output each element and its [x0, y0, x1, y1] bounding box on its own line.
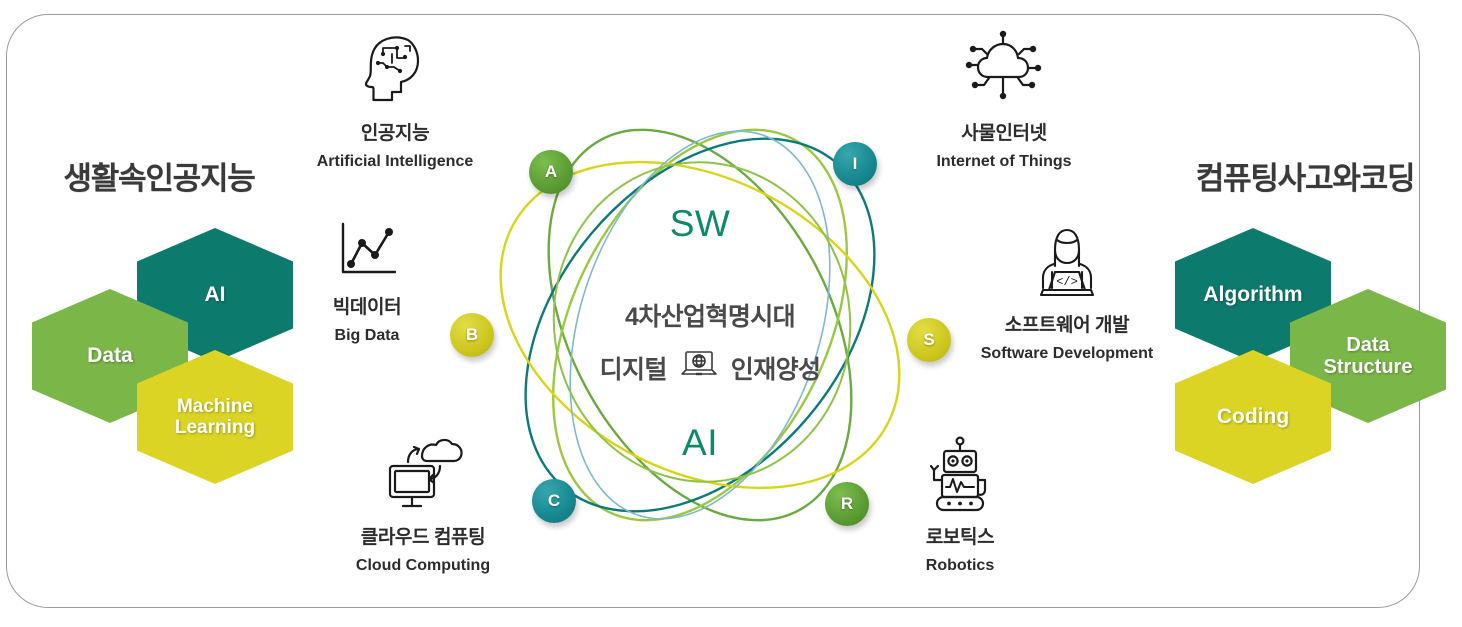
infographic-canvas: 생활속인공지능 AI Data Machine Learning 컴퓨팅사고와코…	[0, 0, 1462, 627]
line-chart-icon	[252, 212, 482, 284]
core-line2-after: 인재양성	[731, 350, 821, 386]
badge-software-development[interactable]: S	[907, 318, 951, 362]
hex-ai-label: AI	[201, 283, 230, 307]
left-section-title: 생활속인공지능	[24, 153, 294, 198]
cloud-network-nodes-icon	[889, 28, 1119, 110]
badge-a-letter: A	[545, 162, 557, 182]
badge-s-letter: S	[923, 330, 934, 350]
badge-c-letter: C	[548, 491, 560, 511]
hex-ml-line2: Learning	[175, 417, 255, 438]
topic-internet-of-things[interactable]: 사물인터넷 Internet of Things	[889, 28, 1119, 171]
topic-software-development[interactable]: </> 소프트웨어 개발 Software Development	[952, 224, 1182, 363]
topic-iot-en: Internet of Things	[889, 153, 1119, 171]
robot-icon	[845, 432, 1075, 514]
hex-coding-label: Coding	[1213, 405, 1293, 429]
laptop-globe-icon	[679, 349, 719, 386]
hex-data-label: Data	[83, 344, 137, 368]
badge-internet-of-things[interactable]: I	[833, 142, 877, 186]
core-ai-label: AI	[580, 422, 820, 464]
svg-text:</>: </>	[1056, 275, 1078, 289]
hex-ds-line2: Structure	[1324, 356, 1413, 378]
topic-big-data-en: Big Data	[252, 327, 482, 345]
hex-ds-line1: Data	[1346, 334, 1389, 356]
ai-head-circuit-icon	[280, 28, 510, 110]
core-headline-line1: 4차산업혁명시대	[540, 297, 880, 333]
topic-robotics-ko: 로보틱스	[845, 522, 1075, 549]
developer-laptop-icon: </>	[952, 224, 1182, 302]
topic-iot-ko: 사물인터넷	[889, 118, 1119, 145]
hex-algorithm-label: Algorithm	[1199, 283, 1306, 307]
topic-sw-dev-en: Software Development	[952, 345, 1182, 363]
core-line2-before: 디지털	[600, 350, 667, 386]
hex-ml-line1: Machine	[177, 396, 253, 417]
topic-cloud-en: Cloud Computing	[308, 557, 538, 575]
badge-artificial-intelligence[interactable]: A	[529, 150, 573, 194]
badge-i-letter: I	[853, 154, 858, 174]
cloud-monitor-sync-icon	[308, 432, 538, 514]
topic-ai-en: Artificial Intelligence	[280, 153, 510, 171]
topic-robotics-en: Robotics	[845, 557, 1075, 575]
hex-machine-learning-label: Machine Learning	[171, 396, 259, 439]
topic-ai-ko: 인공지능	[280, 118, 510, 145]
badge-cloud-computing[interactable]: C	[532, 479, 576, 523]
topic-cloud-computing[interactable]: 클라우드 컴퓨팅 Cloud Computing	[308, 432, 538, 575]
topic-robotics[interactable]: 로보틱스 Robotics	[845, 432, 1075, 575]
core-sw-label: SW	[580, 203, 820, 245]
hex-data-structure-label: Data Structure	[1320, 334, 1417, 379]
topic-sw-dev-ko: 소프트웨어 개발	[952, 310, 1182, 337]
topic-artificial-intelligence[interactable]: 인공지능 Artificial Intelligence	[280, 28, 510, 171]
topic-big-data[interactable]: 빅데이터 Big Data	[252, 212, 482, 345]
topic-big-data-ko: 빅데이터	[252, 292, 482, 319]
core-headline-line2: 디지털 인재양성	[530, 349, 890, 386]
right-section-title: 컴퓨팅사고와코딩	[1164, 153, 1446, 198]
topic-cloud-ko: 클라우드 컴퓨팅	[308, 522, 538, 549]
